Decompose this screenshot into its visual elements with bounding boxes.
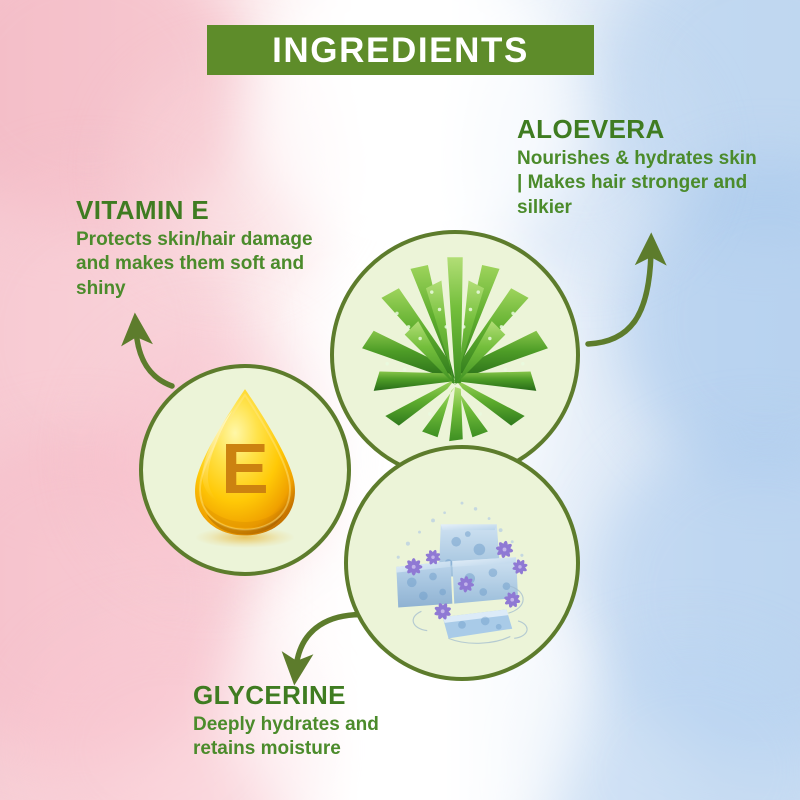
ingredient-circle-aloevera[interactable] bbox=[330, 230, 580, 480]
arrow-to-aloevera bbox=[588, 250, 651, 344]
ingredient-description-vitamin-e: Protects skin/hair damage and makes them… bbox=[76, 228, 316, 301]
ingredient-label-glycerine: GLYCERINE Deeply hydrates and retains mo… bbox=[193, 681, 433, 762]
oil-drop-icon: E bbox=[143, 368, 347, 572]
ingredient-circle-vitamin-e[interactable]: E bbox=[139, 364, 351, 576]
soap-bar-left bbox=[396, 561, 452, 607]
ingredients-poster: INGREDIENTS bbox=[0, 0, 800, 800]
soap-bar-front bbox=[443, 609, 513, 638]
ingredient-description-glycerine: Deeply hydrates and retains moisture bbox=[193, 713, 433, 762]
soap-bars-icon bbox=[348, 449, 576, 677]
ingredient-description-aloevera: Nourishes & hydrates skin | Makes hair s… bbox=[517, 147, 767, 220]
aloe-plant-icon bbox=[334, 234, 576, 476]
ingredient-title-aloevera: ALOEVERA bbox=[517, 115, 767, 143]
ingredient-label-aloevera: ALOEVERA Nourishes & hydrates skin | Mak… bbox=[517, 115, 767, 220]
ingredient-title-vitamin-e: VITAMIN E bbox=[76, 196, 316, 224]
oil-drop-letter: E bbox=[221, 430, 268, 509]
ingredient-label-vitamin-e: VITAMIN E Protects skin/hair damage and … bbox=[76, 196, 316, 301]
ingredient-circle-glycerine[interactable] bbox=[344, 445, 580, 681]
ingredient-title-glycerine: GLYCERINE bbox=[193, 681, 433, 709]
